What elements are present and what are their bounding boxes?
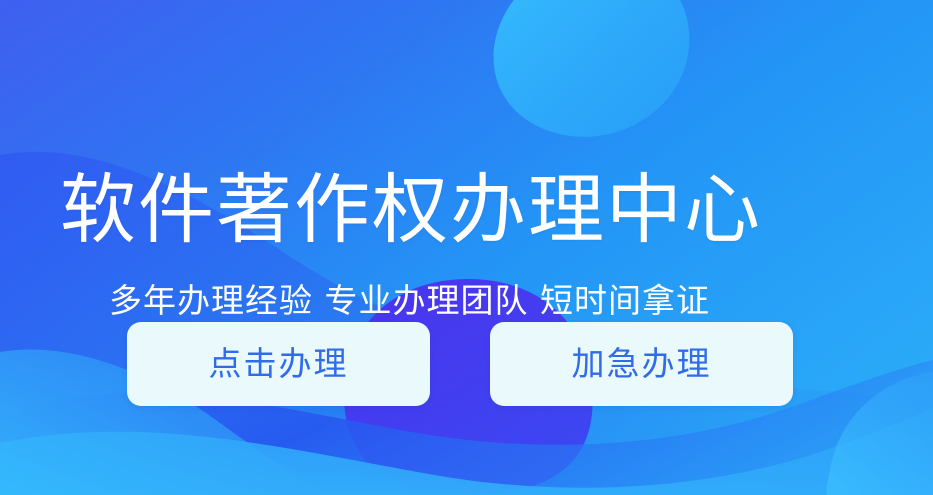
expedited-apply-button[interactable]: 加急办理 xyxy=(490,322,793,406)
page-title: 软件著作权办理中心 xyxy=(60,164,762,256)
banner-content: 软件著作权办理中心 多年办理经验 专业办理团队 短时间拿证 点击办理 加急办理 xyxy=(0,0,933,495)
promo-banner: 软件著作权办理中心 多年办理经验 专业办理团队 短时间拿证 点击办理 加急办理 xyxy=(0,0,933,495)
apply-now-button[interactable]: 点击办理 xyxy=(127,322,430,406)
banner-subtitle: 多年办理经验 专业办理团队 短时间拿证 xyxy=(109,279,710,323)
cta-button-row: 点击办理 加急办理 xyxy=(127,322,793,406)
